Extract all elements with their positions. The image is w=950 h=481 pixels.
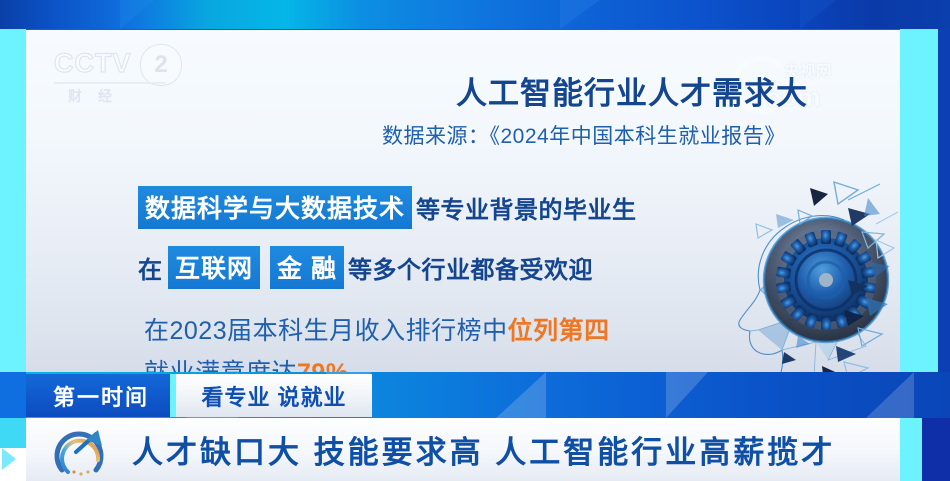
stat-line-ranking: 在2023届本科生月收入排行榜中位列第四 xyxy=(144,311,664,347)
stats-block: 在2023届本科生月收入排行榜中位列第四 就业满意度达79% xyxy=(144,311,664,372)
top-decorative-band xyxy=(0,0,950,29)
circular-arrow-logo-icon xyxy=(52,426,114,478)
cctv-logo-rule xyxy=(54,82,166,84)
band-shape xyxy=(666,372,708,418)
highlight-industry-finance: 金 融 xyxy=(270,246,344,289)
right-cyan-rail xyxy=(900,29,938,372)
stat-ranking-accent: 位列第四 xyxy=(508,317,610,345)
cctv-channel-logo: CCTV 2 财经 xyxy=(52,42,192,112)
body-line-2: 在互联网金 融等多个行业都备受欢迎 xyxy=(138,246,738,289)
body-line-1-rest: 等专业背景的毕业生 xyxy=(412,190,637,225)
left-rail-band-segment xyxy=(0,372,26,418)
band-shape xyxy=(60,0,100,29)
left-cyan-rail xyxy=(0,29,26,372)
main-content-card: CCTV 2 财经 央视网 com 人工智能行业人才需求大 数据来源：《2024… xyxy=(26,30,900,372)
band-shape xyxy=(120,0,154,29)
page-title: 人工智能行业人才需求大 xyxy=(456,68,886,113)
broadcast-screen: CCTV 2 财经 央视网 com 人工智能行业人才需求大 数据来源：《2024… xyxy=(0,0,950,481)
right-cyan-rail-lower xyxy=(900,418,922,481)
band-shape xyxy=(496,372,546,418)
right-deep-blue-rail xyxy=(938,29,950,372)
segment-name-tag[interactable]: 看专业 说就业 xyxy=(176,374,372,417)
band-shape xyxy=(560,0,600,29)
highlight-industry-internet: 互联网 xyxy=(168,246,260,289)
data-source-line: 数据来源：《2024年中国本科生就业报告》 xyxy=(382,120,900,150)
right-deep-blue-rail-lower xyxy=(922,418,950,481)
cctv-channel-number: 2 xyxy=(140,44,182,86)
body-copy: 数据科学与大数据技术等专业背景的毕业生 在互联网金 融等多个行业都备受欢迎 xyxy=(138,186,738,306)
band-shape xyxy=(230,0,274,29)
cctv-channel-subtitle: 财经 xyxy=(68,86,178,106)
band-shape xyxy=(690,0,736,29)
stat-satisfaction-prefix: 就业满意度达 xyxy=(144,359,297,372)
play-arrow-icon xyxy=(2,448,16,470)
stat-satisfaction-accent: 79% xyxy=(297,359,349,372)
news-ticker: 人才缺口大 技能要求高 人工智能行业高薪揽才 xyxy=(26,418,900,481)
ticker-headline: 人才缺口大 技能要求高 人工智能行业高薪揽才 xyxy=(132,418,835,481)
stat-ranking-prefix: 在2023届本科生月收入排行榜中 xyxy=(144,317,508,345)
body-line-1: 数据科学与大数据技术等专业背景的毕业生 xyxy=(138,186,738,229)
body-line-2-rest: 等多个行业都备受欢迎 xyxy=(344,250,593,285)
highlight-major-data-science: 数据科学与大数据技术 xyxy=(138,186,412,229)
band-shape xyxy=(866,372,914,418)
program-name-tag[interactable]: 第一时间 xyxy=(26,374,176,417)
stat-line-satisfaction: 就业满意度达79% xyxy=(144,353,664,372)
body-line-2-lead: 在 xyxy=(138,250,168,285)
cctv-wordmark: CCTV xyxy=(54,48,132,79)
band-shape xyxy=(800,0,836,29)
